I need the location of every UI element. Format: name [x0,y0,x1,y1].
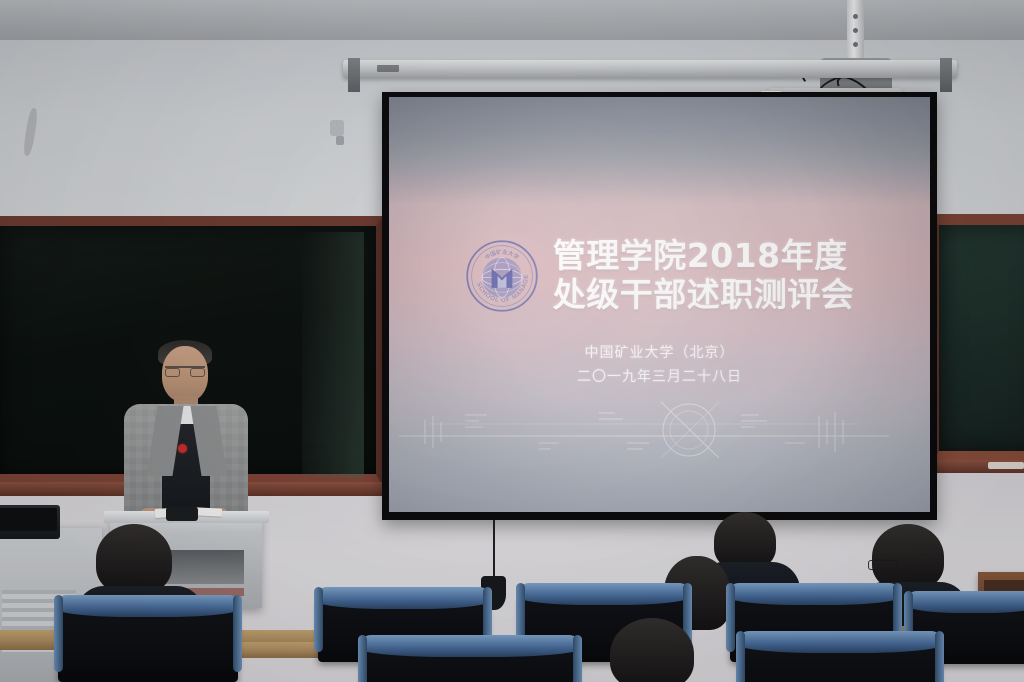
presenter-lapel-pin [178,444,187,453]
chalk-stick [988,462,1024,469]
wall-fixture-shadow [336,136,344,145]
chair[interactable] [58,600,238,682]
presenter [110,340,260,530]
slide-decoration-graphic [389,394,909,468]
screen-roller-casing [343,60,957,78]
attendee-head [96,524,172,594]
presenter-glasses-icon [165,366,205,375]
papers-on-lectern [196,507,222,516]
slide-subtitle-line-1: 中国矿业大学（北京） [577,341,742,366]
screen-pull-cord[interactable] [493,520,495,582]
lecture-room-photo: 中国矿业大学 SCHOOL OF MANAGEMENT 管理学院2018年度 处… [0,0,1024,682]
slide-content: 中国矿业大学 SCHOOL OF MANAGEMENT 管理学院2018年度 处… [389,97,930,512]
projector-mount-pole [847,0,864,62]
slide-title-line-1: 管理学院2018年度 [553,237,855,276]
control-monitor [0,505,60,539]
school-of-management-logo-icon: 中国矿业大学 SCHOOL OF MANAGEMENT [465,239,539,313]
slide-subtitle-block: 中国矿业大学（北京） 二〇一九年三月二十八日 [577,341,742,390]
chair[interactable] [740,636,940,682]
roller-bracket-left [348,58,360,92]
roller-bracket-right [940,58,952,92]
slide-title-line-2: 处级干部述职测评会 [553,276,855,315]
attendee-head [610,618,694,682]
chair[interactable] [362,640,578,682]
wall-fixture [330,120,344,136]
attendee-head [872,524,944,590]
projection-screen: 中国矿业大学 SCHOOL OF MANAGEMENT 管理学院2018年度 处… [382,92,937,520]
slide-subtitle-line-2: 二〇一九年三月二十八日 [577,365,742,390]
screen-surface: 中国矿业大学 SCHOOL OF MANAGEMENT 管理学院2018年度 处… [389,97,930,512]
attendee-center-front [602,618,714,682]
blackboard-glare [302,232,364,478]
microphone-unit[interactable] [166,507,198,521]
blackboard-right [930,214,1024,466]
slide-header-row: 中国矿业大学 SCHOOL OF MANAGEMENT 管理学院2018年度 处… [465,237,855,315]
slide-title-block: 管理学院2018年度 处级干部述职测评会 [553,237,855,315]
roller-brand-mark [377,65,399,72]
attendee-glasses-icon [868,560,898,570]
